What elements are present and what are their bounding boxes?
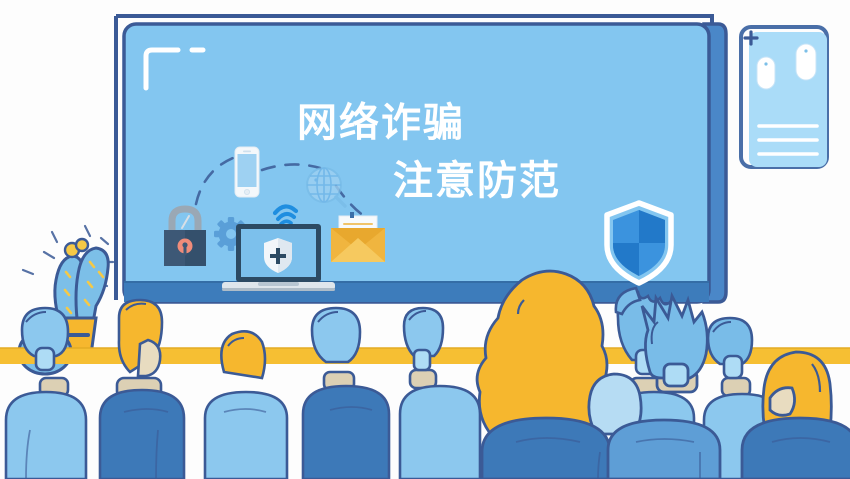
wall-poster-tag-1: [757, 57, 775, 89]
smartphone-icon: [235, 147, 259, 197]
scene-svg: 网络诈骗 注意防范: [0, 0, 850, 479]
person-1: [404, 308, 443, 388]
board-title-line-2: 注意防范: [393, 158, 561, 204]
body-back-2: [100, 390, 184, 479]
body-back-5: [400, 386, 480, 479]
body-front-right: [608, 420, 720, 479]
body-back-4: [303, 386, 389, 479]
board-title-line-1: 网络诈骗: [297, 100, 465, 146]
wall-poster: [741, 27, 827, 167]
envelope-icon: [331, 212, 385, 262]
wall-poster-tag-2: [796, 44, 816, 80]
body-front-center: [482, 418, 610, 479]
person-4: [117, 300, 162, 398]
person-3: [221, 331, 265, 378]
laptop-icon: [222, 224, 335, 291]
body-back-3: [205, 392, 287, 479]
body-front-far-right: [742, 418, 850, 479]
illustration-canvas: 网络诈骗 注意防范: [0, 0, 850, 479]
